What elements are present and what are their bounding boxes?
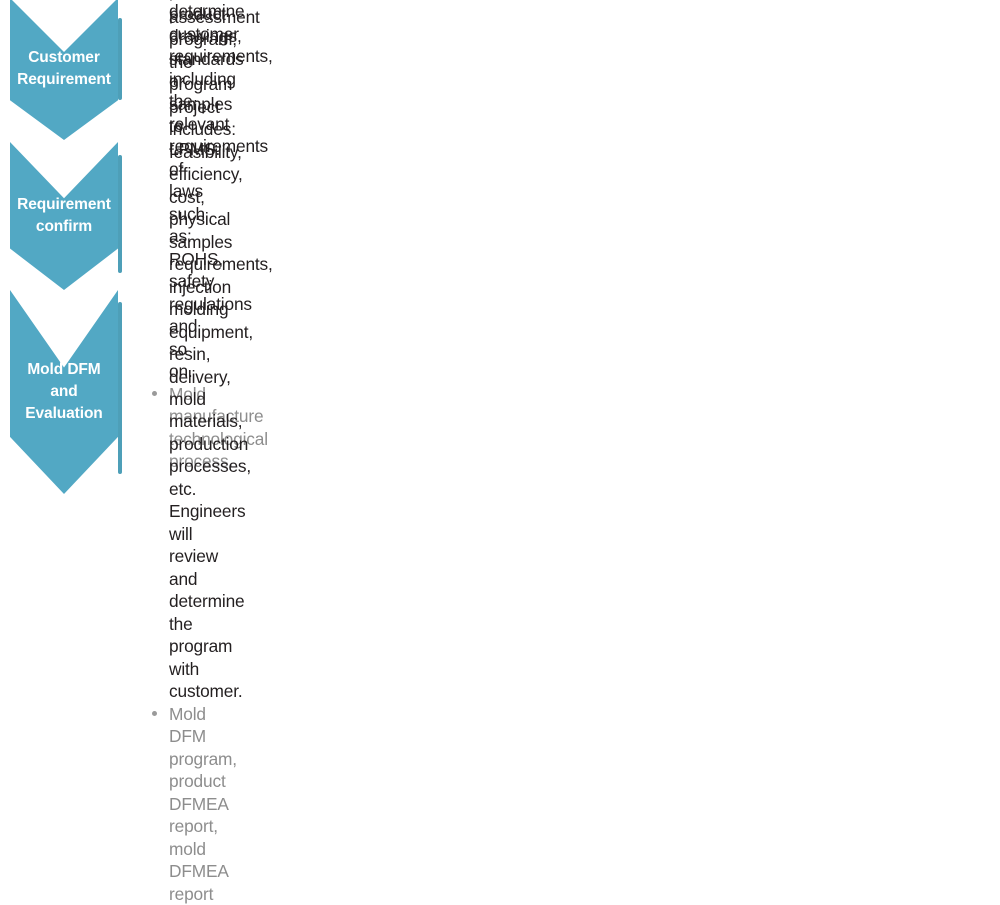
- process-flow-diagram: Customer provides product drawings, stan…: [0, 0, 1000, 494]
- chevron-label-customer-requirement: Customer Requirement: [15, 47, 113, 91]
- content-box-mold-dfm-and-evaluation: Mold engineers will set up mold assessme…: [118, 302, 122, 474]
- chevron-customer-requirement: Customer Requirement: [10, 0, 118, 140]
- bullet-item-description: Mold engineers will set up mold assessme…: [152, 0, 169, 703]
- chevron-label-mold-dfm-and-evaluation: Mold DFM and Evaluation: [23, 359, 104, 425]
- chevron-label-requirement-confirm: Requirement confirm: [15, 194, 113, 238]
- chevron-mold-dfm-and-evaluation: Mold DFM and Evaluation: [10, 290, 118, 494]
- bullet-list-mold-dfm-and-evaluation: Mold engineers will set up mold assessme…: [120, 0, 178, 905]
- chevron-requirement-confirm: Requirement confirm: [10, 142, 118, 290]
- bullet-item-output: Mold DFM program, product DFMEA report, …: [152, 703, 169, 905]
